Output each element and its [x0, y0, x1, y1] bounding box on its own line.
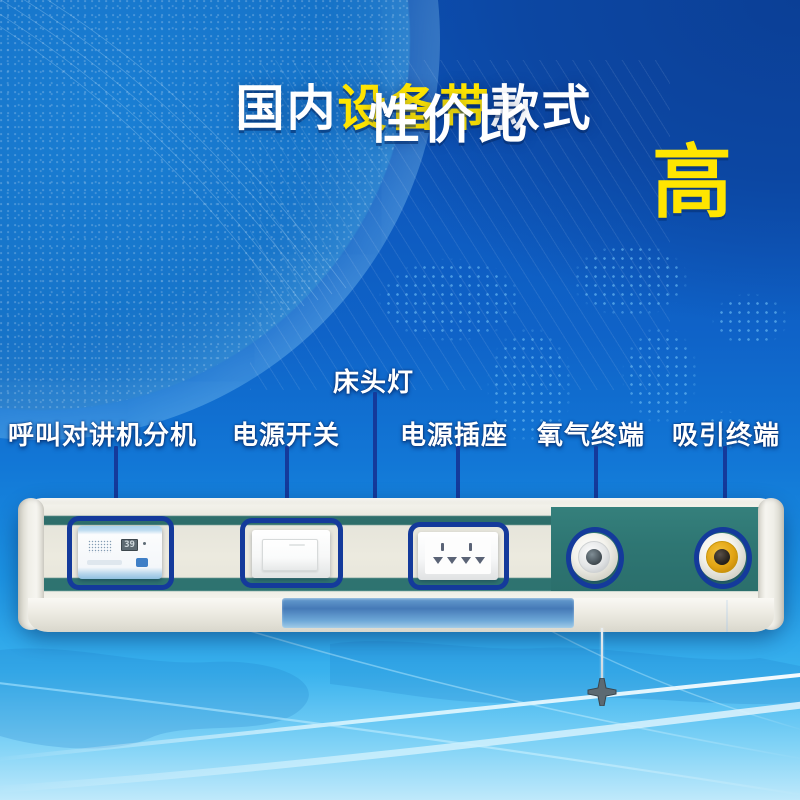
panel-blue-handle-strip — [282, 598, 574, 628]
pull-cord-cross-pendant[interactable] — [586, 678, 618, 706]
headline-emphasis-high: 高 — [652, 143, 732, 223]
terminal-cord-secondary — [726, 600, 728, 632]
callout-label-oxygen-terminal: 氧气终端 — [537, 415, 645, 452]
callout-label-intercom: 呼叫对讲机分机 — [8, 415, 197, 452]
dotted-world-map — [330, 200, 800, 500]
highlight-box-power-switch — [240, 518, 343, 588]
highlight-box-power-socket — [408, 522, 509, 590]
pull-cord[interactable] — [601, 628, 603, 684]
headline-line-2: 性价比 — [368, 78, 530, 153]
callout-label-power-socket: 电源插座 — [400, 415, 508, 452]
highlight-box-intercom — [67, 516, 174, 590]
highlight-box-suction-terminal — [694, 527, 752, 589]
highlight-box-oxygen-terminal — [566, 527, 624, 589]
